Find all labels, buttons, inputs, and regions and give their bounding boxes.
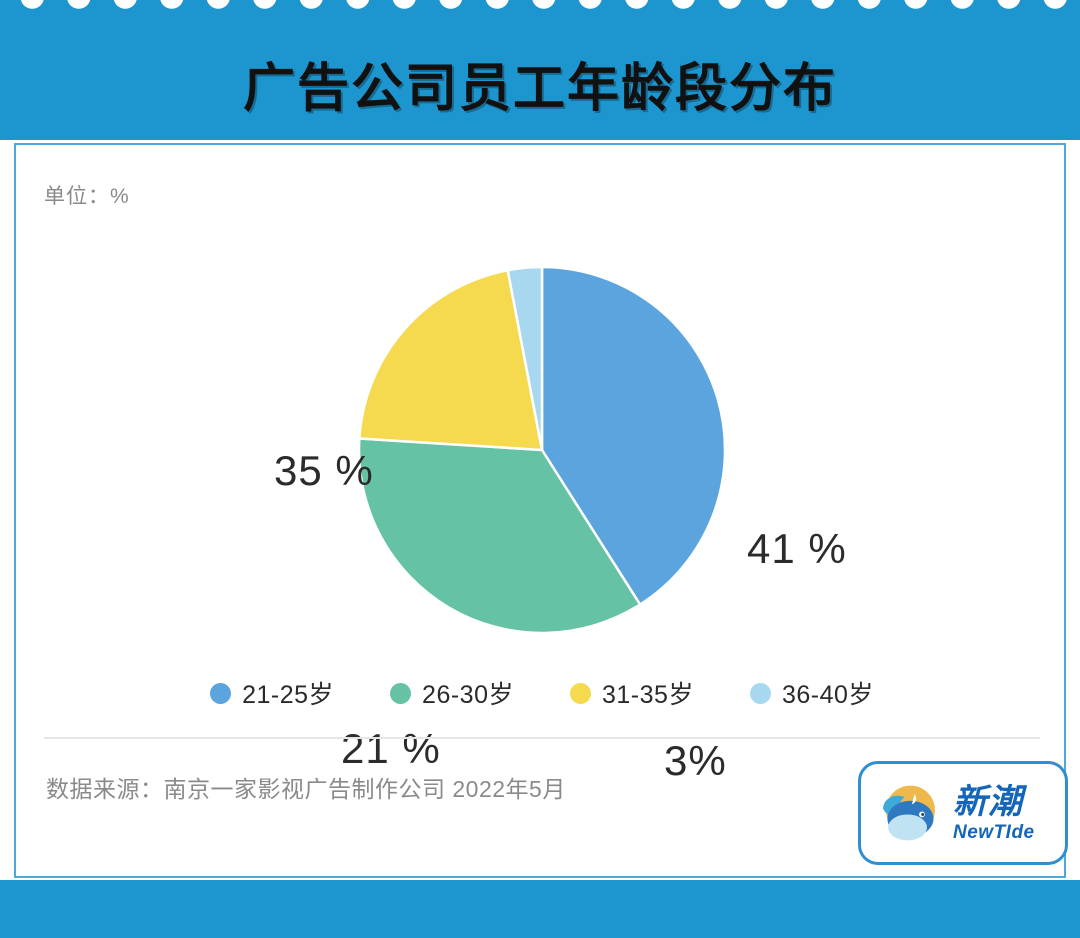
legend-item-31-35[interactable]: 31-35岁	[570, 675, 694, 711]
footer-band	[0, 880, 1080, 938]
unit-label: 单位：%	[44, 180, 130, 210]
legend-label: 21-25岁	[242, 675, 334, 711]
legend-swatch-icon	[390, 683, 411, 704]
legend-swatch-icon	[210, 683, 231, 704]
pie-chart	[16, 255, 1068, 645]
legend-swatch-icon	[570, 683, 591, 704]
legend-item-36-40[interactable]: 36-40岁	[750, 675, 874, 711]
data-source-text: 数据来源：南京一家影视广告制作公司 2022年5月	[46, 770, 566, 804]
logo-name-cn: 新潮	[953, 785, 1035, 819]
logo-name-en: NewTIde	[953, 823, 1035, 842]
legend-label: 31-35岁	[602, 675, 694, 711]
chart-legend: 21-25岁 26-30岁 31-35岁 36-40岁	[16, 675, 1068, 711]
pie-chart-svg	[342, 255, 742, 645]
infographic-poster: 广告公司员工年龄段分布 单位：% 41 % 35 % 21 % 3% 21-25…	[0, 0, 1080, 938]
legend-swatch-icon	[750, 683, 771, 704]
whale-icon	[873, 777, 945, 849]
pie-label-21-25: 41 %	[747, 525, 847, 573]
footer-divider	[44, 737, 1040, 739]
chart-card: 单位：% 41 % 35 % 21 % 3% 21-25岁 26-30岁 31-…	[14, 143, 1066, 878]
logo-wordmark: 新潮 NewTIde	[953, 785, 1035, 842]
legend-label: 26-30岁	[422, 675, 514, 711]
legend-item-21-25[interactable]: 21-25岁	[210, 675, 334, 711]
header-band: 广告公司员工年龄段分布	[0, 0, 1080, 140]
legend-label: 36-40岁	[782, 675, 874, 711]
pie-label-31-35: 21 %	[341, 725, 441, 773]
page-title: 广告公司员工年龄段分布	[0, 46, 1080, 121]
legend-item-26-30[interactable]: 26-30岁	[390, 675, 514, 711]
pie-label-26-30: 35 %	[274, 447, 374, 495]
pie-label-36-40: 3%	[664, 737, 727, 785]
scallop-bottom-edge	[0, 914, 1080, 938]
scallop-top-edge	[0, 0, 1080, 22]
brand-logo[interactable]: 新潮 NewTIde	[858, 761, 1068, 865]
